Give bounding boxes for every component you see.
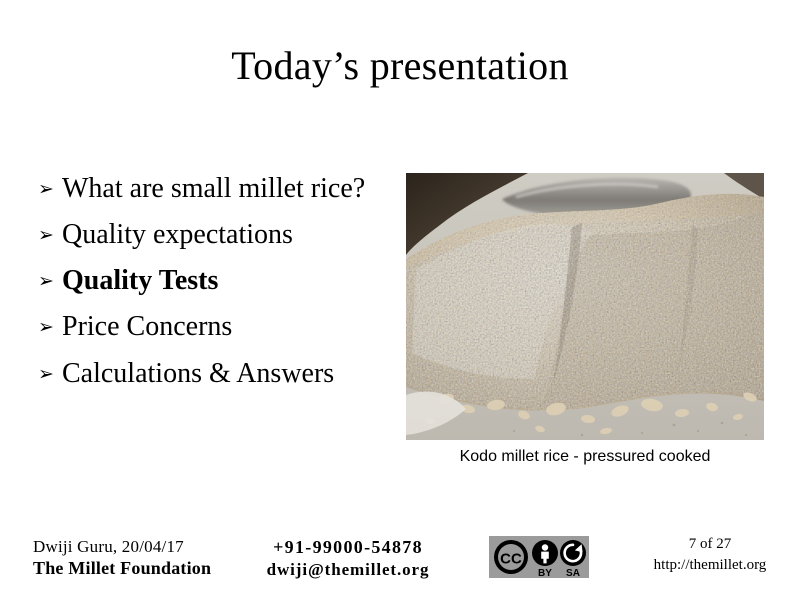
list-item: ➢ Quality expectations (38, 218, 388, 252)
organization-name: The Millet Foundation (33, 557, 248, 580)
list-item-label: Quality Tests (62, 264, 388, 298)
arrow-bullet-icon: ➢ (38, 172, 62, 201)
list-item-label: What are small millet rice? (62, 172, 388, 206)
list-item-label: Quality expectations (62, 218, 388, 252)
sa-share-alike-icon (560, 540, 586, 566)
presentation-slide: Today’s presentation ➢ What are small mi… (0, 0, 800, 600)
arrow-bullet-icon: ➢ (38, 218, 62, 247)
footer-author-block: Dwiji Guru, 20/04/17 The Millet Foundati… (33, 536, 248, 580)
sa-label: SA (566, 568, 580, 578)
svg-text:CC: CC (500, 551, 522, 568)
by-person-icon (532, 540, 558, 566)
list-item: ➢ Price Concerns (38, 310, 388, 344)
arrow-bullet-icon: ➢ (38, 357, 62, 386)
arrow-bullet-icon: ➢ (38, 310, 62, 339)
list-item-label: Price Concerns (62, 310, 388, 344)
footer-contact-block: +91-99000-54878 dwiji@themillet.org (248, 536, 448, 581)
bullet-list: ➢ What are small millet rice? ➢ Quality … (38, 172, 388, 403)
author-name: Dwiji Guru, 20/04/17 (33, 536, 248, 557)
list-item: ➢ Quality Tests (38, 264, 388, 298)
list-item-label: Calculations & Answers (62, 357, 388, 391)
creative-commons-by-sa-badge[interactable]: CC BY SA (489, 536, 589, 578)
slide-title: Today’s presentation (0, 44, 800, 88)
photo-caption: Kodo millet rice - pressured cooked (406, 448, 764, 466)
email-address[interactable]: dwiji@themillet.org (248, 559, 448, 581)
list-item: ➢ Calculations & Answers (38, 357, 388, 391)
arrow-bullet-icon: ➢ (38, 264, 62, 293)
phone-number: +91-99000-54878 (248, 536, 448, 559)
website-url[interactable]: http://themillet.org (630, 555, 790, 576)
cc-icon: CC (494, 540, 528, 574)
photo-figure: Kodo millet rice - pressured cooked (406, 173, 764, 440)
list-item: ➢ What are small millet rice? (38, 172, 388, 206)
page-number: 7 of 27 (630, 534, 790, 555)
by-label: BY (538, 568, 552, 578)
footer-page-info: 7 of 27 http://themillet.org (630, 534, 790, 576)
cooked-millet-rice-photo (406, 173, 764, 440)
